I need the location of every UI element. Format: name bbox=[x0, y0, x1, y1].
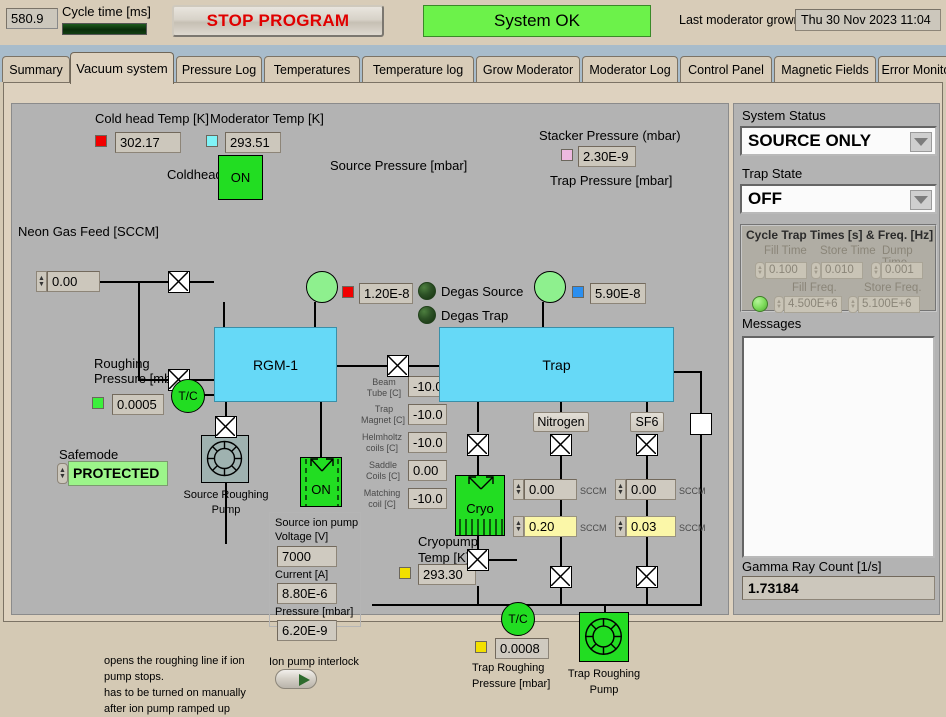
saddle-coils-temp-value: 0.00 bbox=[408, 460, 447, 481]
stacker-pressure-label: Stacker Pressure (mbar) bbox=[539, 128, 681, 143]
trap-thermocouple-gauge: T/C bbox=[501, 602, 535, 636]
source-ion-pump-group-label-1: Source ion pump bbox=[275, 516, 358, 531]
nitrogen-readback-unit: SCCM bbox=[580, 484, 607, 499]
system-status-label: System Status bbox=[742, 108, 826, 123]
roughing-note-line-1: opens the roughing line if ion bbox=[104, 654, 245, 669]
valve-beam-tube[interactable] bbox=[387, 355, 409, 377]
stacker-pressure-led bbox=[561, 149, 573, 161]
store-freq-stepper[interactable]: ▲▼ bbox=[848, 296, 858, 313]
fill-freq-value[interactable]: 4.500E+6 bbox=[784, 296, 842, 313]
valve-nitrogen-outlet[interactable] bbox=[550, 566, 572, 588]
stop-program-button[interactable]: STOP PROGRAM bbox=[172, 5, 384, 37]
cold-head-temp-value: 302.17 bbox=[115, 132, 181, 153]
pipe-cryo-down-b bbox=[477, 586, 479, 606]
tab-control-panel[interactable]: Control Panel bbox=[680, 56, 772, 82]
source-ion-pump-voltage-value: 7000 bbox=[277, 546, 337, 567]
pipe-cryovalve-to-cryo bbox=[477, 456, 479, 476]
trap-roughing-pump-label-1: Trap Roughing bbox=[546, 667, 662, 682]
system-status-dropdown[interactable]: SOURCE ONLY bbox=[740, 126, 937, 156]
source-ion-pump-pressure-label: Pressure [mbar] bbox=[275, 605, 353, 620]
nitrogen-setpoint-stepper[interactable]: ▲▼ bbox=[513, 516, 524, 537]
trap-state-dropdown[interactable]: OFF bbox=[740, 184, 937, 214]
pipe-rgm-down-a bbox=[225, 402, 227, 416]
trap-roughing-pressure-label-2: Pressure [mbar] bbox=[472, 677, 550, 692]
sf6-button[interactable]: SF6 bbox=[630, 412, 664, 432]
tab-temperatures[interactable]: Temperatures bbox=[264, 56, 360, 82]
sf6-setpoint-unit: SCCM bbox=[679, 521, 706, 536]
trap-pressure-gauge-icon bbox=[534, 271, 566, 303]
dump-time-value[interactable]: 0.001 bbox=[881, 262, 923, 279]
nitrogen-readback-stepper[interactable]: ▲▼ bbox=[513, 479, 524, 500]
messages-list[interactable] bbox=[742, 336, 935, 558]
trap-pressure-led bbox=[572, 286, 584, 298]
cryopump-temp-label-1: Cryopump bbox=[418, 534, 478, 549]
vacuum-system-panel: Cold head Temp [K] 302.17 Moderator Temp… bbox=[3, 82, 943, 622]
saddle-coils-temp-label-2: Coils [C] bbox=[360, 469, 406, 484]
pipe-nitrogen-b bbox=[560, 456, 562, 566]
trap-pressure-value: 5.90E-8 bbox=[590, 283, 646, 304]
vacuum-schematic: Cold head Temp [K] 302.17 Moderator Temp… bbox=[11, 103, 729, 615]
coldhead-label: Coldhead bbox=[167, 167, 223, 182]
fill-freq-stepper[interactable]: ▲▼ bbox=[774, 296, 784, 313]
sf6-readback-value: 0.00 bbox=[626, 479, 676, 500]
trap-magnet-temp-value: -10.0 bbox=[408, 404, 447, 425]
tab-magnetic-fields[interactable]: Magnetic Fields bbox=[774, 56, 876, 82]
source-ion-pump-icon: ON bbox=[300, 457, 342, 507]
system-ok-banner: System OK bbox=[423, 5, 651, 37]
pipe-bottom-manifold bbox=[372, 604, 702, 606]
valve-bypass-open[interactable] bbox=[690, 413, 712, 435]
source-roughing-pump-label-2: Pump bbox=[168, 503, 284, 518]
matching-coil-temp-value: -10.0 bbox=[408, 488, 447, 509]
dump-time-stepper[interactable]: ▲▼ bbox=[871, 262, 881, 279]
cycle-time-value: 580.9 bbox=[6, 8, 58, 29]
chevron-down-icon-2[interactable] bbox=[910, 190, 932, 210]
store-freq-label: Store Freq. bbox=[864, 282, 922, 294]
moderator-temp-label: Moderator Temp [K] bbox=[210, 111, 324, 126]
safemode-value[interactable]: PROTECTED bbox=[68, 461, 168, 486]
source-roughing-pump-label-1: Source Roughing bbox=[168, 488, 284, 503]
roughing-pressure-label-1: Roughing bbox=[94, 356, 150, 371]
valve-cryo-outlet[interactable] bbox=[467, 549, 489, 571]
messages-label: Messages bbox=[742, 316, 801, 331]
tab-grow-moderator[interactable]: Grow Moderator bbox=[476, 56, 580, 82]
neon-gas-feed-stepper[interactable]: ▲▼ bbox=[36, 271, 47, 292]
safemode-label: Safemode bbox=[59, 447, 118, 462]
source-pressure-label: Source Pressure [mbar] bbox=[330, 158, 467, 173]
helmholtz-coils-temp-value: -10.0 bbox=[408, 432, 447, 453]
pipe-source-pump-stem bbox=[225, 528, 227, 544]
valve-source-roughing[interactable] bbox=[215, 416, 237, 438]
moderator-temp-led bbox=[206, 135, 218, 147]
pipe-coldhead-stem bbox=[223, 302, 225, 327]
pipe-trap-pump-stem bbox=[604, 604, 606, 612]
pipe-trap-tc-tap bbox=[477, 604, 479, 606]
cryopump-temp-led bbox=[399, 567, 411, 579]
roughing-note-line-3: has to be turned on manually bbox=[104, 686, 246, 701]
store-time-value[interactable]: 0.010 bbox=[821, 262, 863, 279]
cycle-time-label: Cycle time [ms] bbox=[62, 4, 151, 19]
trap-roughing-pump-label-2: Pump bbox=[546, 683, 662, 698]
fill-freq-label: Fill Freq. bbox=[792, 282, 837, 294]
cycle-trap-times-group: Cycle Trap Times [s] & Freq. [Hz] Fill T… bbox=[740, 224, 937, 312]
nitrogen-setpoint-value[interactable]: 0.20 bbox=[524, 516, 577, 537]
valve-cryo-inlet[interactable] bbox=[467, 434, 489, 456]
degas-source-led[interactable] bbox=[418, 282, 436, 300]
stacker-pressure-value: 2.30E-9 bbox=[578, 146, 636, 167]
pipe-trap-gauge-stem bbox=[542, 302, 544, 327]
pipe-neon-to-valve bbox=[100, 281, 168, 283]
roughing-note-line-2: pump stops. bbox=[104, 670, 164, 685]
last-moderator-grown-label: Last moderator grown bbox=[679, 13, 801, 28]
trap-magnet-temp-label-2: Magnet [C] bbox=[360, 413, 406, 428]
cold-head-led bbox=[95, 135, 107, 147]
pipe-beamvalve-to-trap bbox=[409, 365, 439, 367]
tab-error-monitor[interactable]: Error Monitor bbox=[878, 56, 946, 82]
tab-moderator-log[interactable]: Moderator Log bbox=[582, 56, 678, 82]
trap-roughing-pressure-label-1: Trap Roughing bbox=[472, 661, 544, 676]
coldhead-indicator: ON bbox=[218, 155, 263, 200]
neon-gas-feed-value[interactable]: 0.00 bbox=[47, 271, 100, 292]
trap-state-value: OFF bbox=[748, 189, 782, 209]
cryopump-icon: Cryo bbox=[455, 475, 505, 536]
degas-trap-led[interactable] bbox=[418, 306, 436, 324]
valve-sf6-inlet[interactable] bbox=[636, 434, 658, 456]
fill-time-stepper[interactable]: ▲▼ bbox=[755, 262, 765, 279]
valve-neon-feed[interactable] bbox=[168, 271, 190, 293]
last-moderator-grown-value: Thu 30 Nov 2023 11:04 bbox=[795, 9, 941, 31]
nitrogen-button[interactable]: Nitrogen bbox=[533, 412, 589, 432]
degas-source-label: Degas Source bbox=[441, 284, 523, 299]
gamma-ray-count-value: 1.73184 bbox=[742, 576, 935, 600]
pipe-valve-to-rgm bbox=[190, 281, 214, 283]
trap-roughing-pressure-led bbox=[475, 641, 487, 653]
pipe-bypass-top bbox=[674, 371, 702, 373]
pipe-rgm-to-beamvalve bbox=[337, 365, 387, 367]
pipe-sf6-b bbox=[646, 456, 648, 566]
source-pressure-value: 1.20E-8 bbox=[359, 283, 413, 304]
moderator-temp-value: 293.51 bbox=[225, 132, 281, 153]
safemode-stepper[interactable]: ▲▼ bbox=[57, 463, 68, 484]
cycle-time-progress-bar bbox=[62, 23, 147, 35]
source-roughing-pump-icon bbox=[201, 435, 249, 483]
sf6-readback-stepper[interactable]: ▲▼ bbox=[615, 479, 626, 500]
tab-summary[interactable]: Summary bbox=[2, 56, 70, 82]
roughing-pressure-value: 0.0005 bbox=[112, 394, 164, 415]
trap-roughing-pump-icon bbox=[579, 612, 629, 662]
cycle-trap-times-title: Cycle Trap Times [s] & Freq. [Hz] bbox=[746, 228, 933, 242]
tab-temperature-log[interactable]: Temperature log bbox=[362, 56, 474, 82]
sf6-setpoint-value[interactable]: 0.03 bbox=[626, 516, 676, 537]
sf6-readback-unit: SCCM bbox=[679, 484, 706, 499]
cold-head-temp-label: Cold head Temp [K] bbox=[95, 111, 209, 126]
source-ion-pump-group-label-2: Voltage [V] bbox=[275, 530, 328, 545]
pipe-rgm-to-ionpump bbox=[320, 402, 322, 457]
sf6-setpoint-stepper[interactable]: ▲▼ bbox=[615, 516, 626, 537]
source-ion-pump-pressure-value: 6.20E-9 bbox=[277, 620, 337, 641]
nitrogen-readback-value: 0.00 bbox=[524, 479, 577, 500]
pipe-trap-to-cryovalve bbox=[477, 402, 479, 432]
valve-nitrogen-inlet[interactable] bbox=[550, 434, 572, 456]
helmholtz-coils-temp-label-2: coils [C] bbox=[358, 441, 406, 456]
roughing-pressure-led bbox=[92, 397, 104, 409]
trap-state-label: Trap State bbox=[742, 166, 802, 181]
source-pressure-led bbox=[342, 286, 354, 298]
rgm1-chamber: RGM-1 bbox=[214, 327, 337, 402]
fill-time-value[interactable]: 0.100 bbox=[765, 262, 807, 279]
ion-pump-interlock-toggle[interactable] bbox=[275, 669, 317, 689]
chevron-down-icon[interactable] bbox=[910, 132, 932, 152]
source-thermocouple-gauge: T/C bbox=[171, 379, 205, 413]
pipe-source-gauge-stem bbox=[314, 302, 316, 327]
status-sidebar: System Status SOURCE ONLY Trap State OFF… bbox=[733, 103, 940, 615]
cycle-active-led bbox=[752, 296, 768, 312]
cryopump-temp-label-2: Temp [K] bbox=[418, 550, 469, 565]
store-time-label: Store Time bbox=[820, 245, 876, 257]
trap-roughing-pressure-value: 0.0008 bbox=[495, 638, 549, 659]
source-ion-pump-current-value: 8.80E-6 bbox=[277, 583, 337, 604]
trap-pressure-label: Trap Pressure [mbar] bbox=[550, 173, 672, 188]
cryopump-label: Cryo bbox=[466, 501, 493, 516]
store-time-stepper[interactable]: ▲▼ bbox=[811, 262, 821, 279]
matching-coil-temp-label-2: coil [C] bbox=[358, 497, 406, 512]
neon-gas-feed-label: Neon Gas Feed [SCCM] bbox=[18, 224, 159, 239]
pipe-bypass-down-a bbox=[700, 371, 702, 413]
source-pressure-gauge-icon bbox=[306, 271, 338, 303]
store-freq-value[interactable]: 5.100E+6 bbox=[858, 296, 920, 313]
fill-time-label: Fill Time bbox=[764, 245, 807, 257]
tab-pressure-log[interactable]: Pressure Log bbox=[176, 56, 262, 82]
roughing-note-line-4: after ion pump ramped up bbox=[104, 702, 230, 717]
top-status-bar: 580.9 Cycle time [ms] STOP PROGRAM Syste… bbox=[0, 0, 946, 45]
beam-tube-temp-label-2: Tube [C] bbox=[362, 386, 406, 401]
tab-vacuum-system[interactable]: Vacuum system bbox=[70, 52, 174, 84]
ion-pump-interlock-label: Ion pump interlock bbox=[269, 655, 359, 670]
trap-chamber: Trap bbox=[439, 327, 674, 402]
nitrogen-setpoint-unit: SCCM bbox=[580, 521, 607, 536]
source-ion-pump-current-label: Current [A] bbox=[275, 568, 328, 583]
degas-trap-label: Degas Trap bbox=[441, 308, 508, 323]
system-status-value: SOURCE ONLY bbox=[748, 131, 871, 151]
gamma-ray-count-label: Gamma Ray Count [1/s] bbox=[742, 559, 881, 574]
valve-sf6-outlet[interactable] bbox=[636, 566, 658, 588]
tab-strip: Summary Vacuum system Pressure Log Tempe… bbox=[0, 50, 946, 82]
